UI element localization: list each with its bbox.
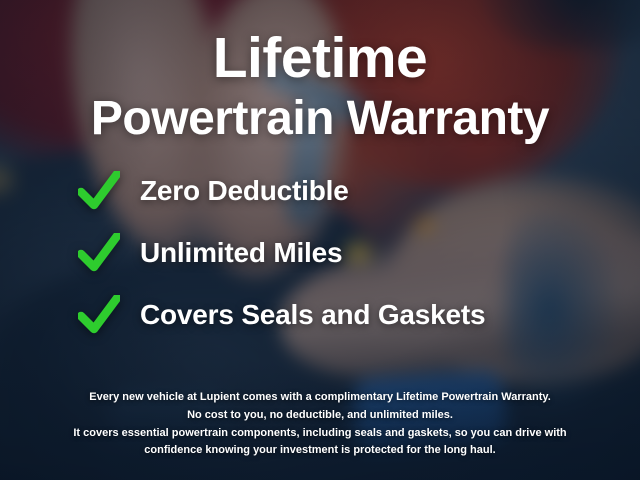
description-line: confidence knowing your investment is pr… — [34, 442, 606, 460]
headline-line-2: Powertrain Warranty — [0, 95, 640, 143]
green-checkmark-icon — [78, 233, 120, 273]
benefit-item-unlimited-miles: Unlimited Miles — [78, 233, 640, 273]
lifetime-powertrain-warranty-banner: Lifetime Powertrain Warranty Zero Deduct… — [0, 0, 640, 480]
banner-content: Lifetime Powertrain Warranty Zero Deduct… — [0, 0, 640, 480]
benefit-label: Covers Seals and Gaskets — [140, 299, 485, 331]
benefit-item-zero-deductible: Zero Deductible — [78, 171, 640, 211]
description-line: It covers essential powertrain component… — [34, 425, 606, 443]
description-line: Every new vehicle at Lupient comes with … — [34, 389, 606, 407]
benefit-label: Zero Deductible — [140, 175, 349, 207]
description-line: No cost to you, no deductible, and unlim… — [34, 407, 606, 425]
benefit-item-covers-seals-and-gaskets: Covers Seals and Gaskets — [78, 295, 640, 335]
green-checkmark-icon — [78, 295, 120, 335]
headline: Lifetime Powertrain Warranty — [0, 0, 640, 143]
benefit-list: Zero Deductible Unlimited Miles Covers S… — [0, 171, 640, 335]
green-checkmark-icon — [78, 171, 120, 211]
description-paragraph: Every new vehicle at Lupient comes with … — [0, 389, 640, 460]
headline-line-1: Lifetime — [0, 30, 640, 87]
benefit-label: Unlimited Miles — [140, 237, 342, 269]
